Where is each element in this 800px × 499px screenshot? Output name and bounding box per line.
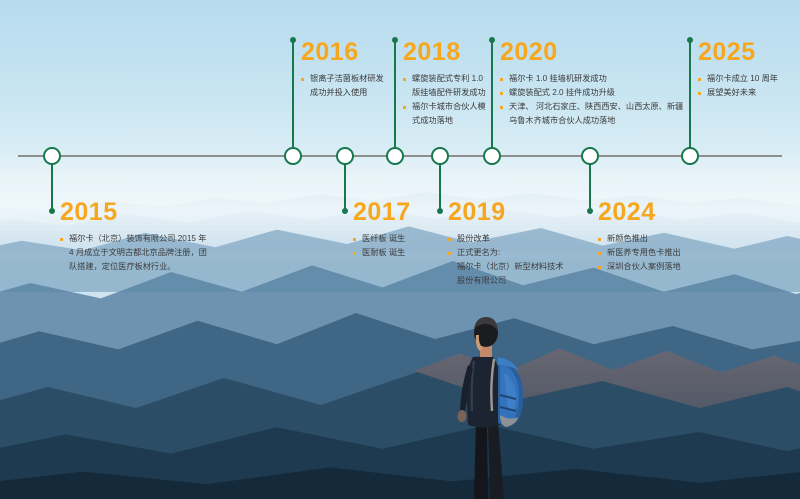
timeline-stem-endpoint [587, 208, 593, 214]
event-bullet-continuation: 福尔卡（北京）新型材料技术 [448, 260, 563, 274]
event-year-label: 2019 [448, 200, 563, 225]
event-bullet-continuation: 式成功落地 [403, 114, 486, 128]
event-bullet-continuation: 股份有限公司 [448, 274, 563, 288]
event-year-label: 2024 [598, 200, 681, 225]
timeline-event-2017: 2017医纤板 诞生医耐板 诞生 [353, 200, 411, 260]
timeline-event-2015: 2015福尔卡（北京）装饰有限公司 2015 年4 月成立于文明古都北京品牌注册… [60, 200, 207, 274]
event-year-label: 2016 [301, 40, 384, 65]
timeline-node-2017[interactable] [336, 147, 354, 165]
event-bullet-list: 螺旋装配式专利 1.0版挂墙配件研发成功福尔卡城市合伙人模式成功落地 [403, 72, 486, 128]
timeline-event-2025: 2025福尔卡成立 10 周年展望美好未来 [698, 40, 778, 100]
timeline-stem-endpoint [687, 37, 693, 43]
timeline-event-2018: 2018螺旋装配式专利 1.0版挂墙配件研发成功福尔卡城市合伙人模式成功落地 [403, 40, 486, 128]
timeline-stem-endpoint [392, 37, 398, 43]
event-year-label: 2025 [698, 40, 778, 65]
event-bullet-continuation: 队搭建，定位医疗板材行业。 [60, 260, 207, 274]
timeline-node-2025[interactable] [681, 147, 699, 165]
timeline-stem-endpoint [437, 208, 443, 214]
timeline-stem-endpoint [489, 37, 495, 43]
event-bullet-list: 新颜色推出新医养专用色卡推出深圳合伙人案例落地 [598, 232, 681, 274]
event-bullet-item: 展望美好未来 [698, 86, 778, 100]
event-bullet-continuation: 乌鲁木齐城市合伙人成功落地 [500, 114, 683, 128]
timeline-event-2016: 2016银离子洁菌板材研发成功并投入使用 [301, 40, 384, 100]
timeline-stem [292, 40, 294, 156]
event-bullet-list: 银离子洁菌板材研发成功并投入使用 [301, 72, 384, 100]
event-bullet-list: 福尔卡 1.0 挂墙机研发成功螺旋装配式 2.0 挂件成功升级天津、 河北石家庄… [500, 72, 683, 128]
timeline-stem-endpoint [49, 208, 55, 214]
event-bullet-item: 银离子洁菌板材研发 [301, 72, 384, 86]
timeline-node-2020[interactable] [483, 147, 501, 165]
event-bullet-item: 福尔卡（北京）装饰有限公司 2015 年 [60, 232, 207, 246]
event-bullet-list: 福尔卡（北京）装饰有限公司 2015 年4 月成立于文明古都北京品牌注册，团队搭… [60, 232, 207, 274]
event-bullet-item: 螺旋装配式 2.0 挂件成功升级 [500, 86, 683, 100]
event-bullet-item: 深圳合伙人案例落地 [598, 260, 681, 274]
event-year-label: 2017 [353, 200, 411, 225]
timeline-stem [394, 40, 396, 156]
event-year-label: 2015 [60, 200, 207, 225]
timeline-node-2018[interactable] [386, 147, 404, 165]
event-bullet-continuation: 成功并投入使用 [301, 86, 384, 100]
event-year-label: 2020 [500, 40, 683, 65]
event-bullet-item: 股份改革 [448, 232, 563, 246]
event-bullet-item: 正式更名为: [448, 246, 563, 260]
hiker-figure [430, 299, 550, 499]
timeline-node-2019[interactable] [431, 147, 449, 165]
event-bullet-continuation: 版挂墙配件研发成功 [403, 86, 486, 100]
event-bullet-continuation: 4 月成立于文明古都北京品牌注册，团 [60, 246, 207, 260]
timeline-stem [491, 40, 493, 156]
timeline-event-2020: 2020福尔卡 1.0 挂墙机研发成功螺旋装配式 2.0 挂件成功升级天津、 河… [500, 40, 683, 128]
timeline-node-2024[interactable] [581, 147, 599, 165]
event-bullet-item: 新颜色推出 [598, 232, 681, 246]
infographic-canvas: 2015福尔卡（北京）装饰有限公司 2015 年4 月成立于文明古都北京品牌注册… [0, 0, 800, 499]
timeline-event-2024: 2024新颜色推出新医养专用色卡推出深圳合伙人案例落地 [598, 200, 681, 274]
timeline-node-2015[interactable] [43, 147, 61, 165]
timeline-stem-endpoint [290, 37, 296, 43]
timeline-node-2016[interactable] [284, 147, 302, 165]
event-bullet-list: 股份改革正式更名为:福尔卡（北京）新型材料技术股份有限公司 [448, 232, 563, 288]
event-bullet-item: 福尔卡 1.0 挂墙机研发成功 [500, 72, 683, 86]
event-bullet-item: 医耐板 诞生 [353, 246, 411, 260]
event-bullet-item: 螺旋装配式专利 1.0 [403, 72, 486, 86]
timeline-stem-endpoint [342, 208, 348, 214]
timeline-event-2019: 2019股份改革正式更名为:福尔卡（北京）新型材料技术股份有限公司 [448, 200, 563, 288]
event-bullet-item: 医纤板 诞生 [353, 232, 411, 246]
event-bullet-item: 福尔卡成立 10 周年 [698, 72, 778, 86]
event-bullet-item: 新医养专用色卡推出 [598, 246, 681, 260]
event-bullet-list: 福尔卡成立 10 周年展望美好未来 [698, 72, 778, 100]
event-bullet-list: 医纤板 诞生医耐板 诞生 [353, 232, 411, 260]
event-year-label: 2018 [403, 40, 486, 65]
event-bullet-item: 天津、 河北石家庄、陕西西安、山西太原、新疆 [500, 100, 683, 114]
timeline-stem [689, 40, 691, 156]
event-bullet-item: 福尔卡城市合伙人模 [403, 100, 486, 114]
